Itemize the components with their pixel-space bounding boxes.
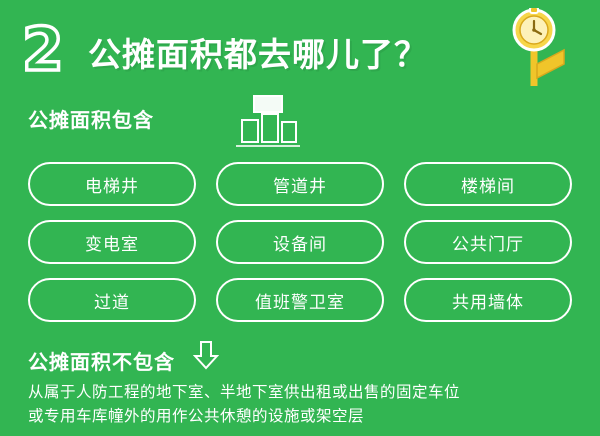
svg-text:2: 2 [22, 18, 64, 80]
building-blocks-icon [228, 90, 308, 152]
header: 2 公摊面积都去哪儿了？ [0, 8, 600, 86]
include-item-pill[interactable]: 管道井 [216, 162, 384, 206]
excludes-line: 或专用车库幢外的用作公共休憩的设施或架空层 [28, 404, 576, 428]
include-item-pill[interactable]: 楼梯间 [404, 162, 572, 206]
infographic-page: 2 公摊面积都去哪儿了？ 公摊面积包含 [0, 0, 600, 436]
include-item-pill[interactable]: 值班警卫室 [216, 278, 384, 322]
include-item-pill[interactable]: 设备间 [216, 220, 384, 264]
excludes-line: 从属于人防工程的地下室、半地下室供出租或出售的固定车位 [28, 380, 576, 404]
arrow-down-icon [193, 340, 219, 370]
clock-stamp-icon [490, 8, 582, 100]
excludes-section-label: 公摊面积不包含 [28, 346, 175, 375]
section-number: 2 [18, 18, 80, 80]
include-item-pill[interactable]: 变电室 [28, 220, 196, 264]
includes-items-grid: 电梯井 管道井 楼梯间 变电室 设备间 公共门厅 过道 值班警卫室 共用墙体 [28, 162, 572, 322]
includes-section-label: 公摊面积包含 [28, 104, 154, 133]
include-item-pill[interactable]: 公共门厅 [404, 220, 572, 264]
include-item-pill[interactable]: 过道 [28, 278, 196, 322]
page-title: 公摊面积都去哪儿了？ [88, 28, 428, 76]
excludes-description: 从属于人防工程的地下室、半地下室供出租或出售的固定车位 或专用车库幢外的用作公共… [28, 380, 576, 428]
include-item-pill[interactable]: 共用墙体 [404, 278, 572, 322]
include-item-pill[interactable]: 电梯井 [28, 162, 196, 206]
